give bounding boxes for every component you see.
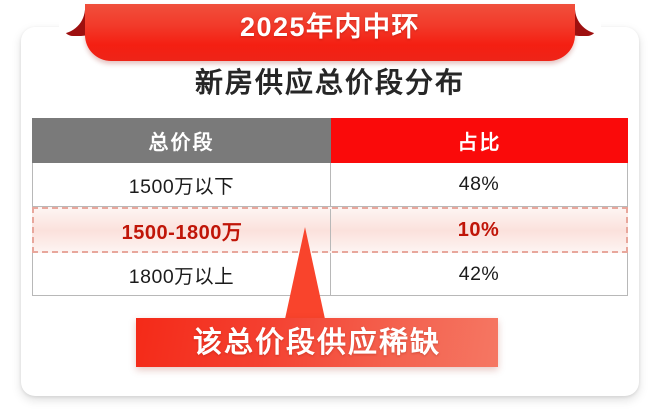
cell-share: 10% (331, 209, 626, 251)
chart-subtitle: 新房供应总价段分布 (0, 63, 660, 103)
poster-root: 2025年内中环 新房供应总价段分布 总价段 占比 1500万以下 48% 15… (0, 0, 660, 413)
table-row-highlighted: 1500-1800万 10% (32, 207, 628, 253)
ribbon-title: 2025年内中环 (63, 8, 597, 46)
price-band-table: 总价段 占比 1500万以下 48% 1500-1800万 10% 1800万以… (32, 118, 628, 296)
callout-banner-text: 该总价段供应稀缺 (193, 326, 441, 360)
column-header-share: 占比 (331, 118, 628, 163)
table-row: 1500万以下 48% (32, 163, 628, 207)
column-header-price-band: 总价段 (32, 118, 331, 163)
table-row: 1800万以上 42% (32, 253, 628, 296)
cell-price-band: 1500万以下 (33, 163, 331, 206)
callout-arrow-icon (285, 227, 325, 319)
table-header-row: 总价段 占比 (32, 118, 628, 163)
ribbon-banner: 2025年内中环 (63, 2, 597, 64)
cell-share: 48% (331, 163, 627, 206)
cell-share: 42% (331, 253, 627, 295)
callout-banner: 该总价段供应稀缺 (136, 318, 498, 367)
